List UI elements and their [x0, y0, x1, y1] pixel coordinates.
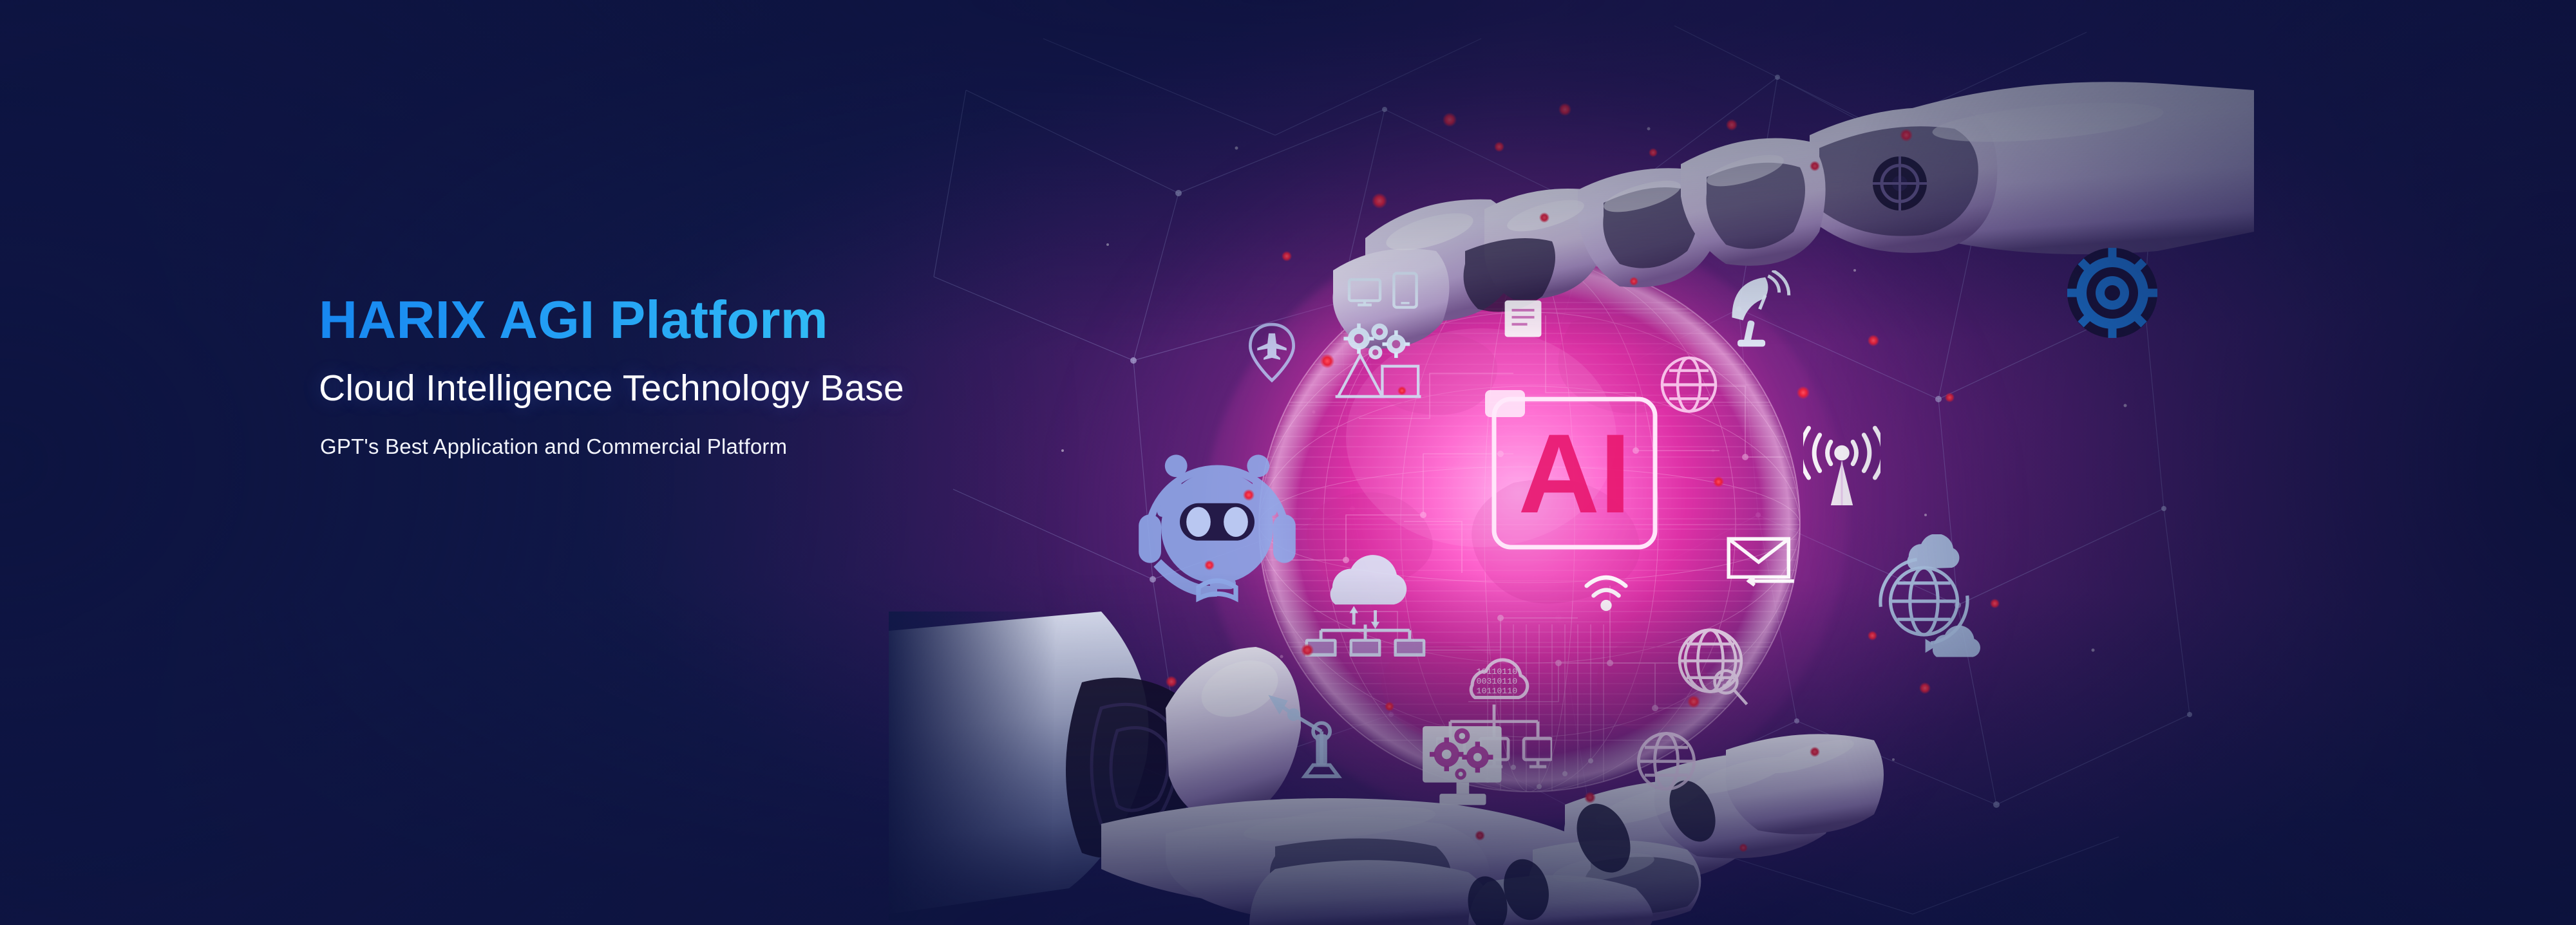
edge-vignette [0, 0, 2576, 925]
hero-banner: AI [0, 0, 2576, 925]
page-title: HARIX AGI Platform [319, 293, 1220, 346]
page-subtitle: Cloud Intelligence Technology Base [319, 369, 1220, 408]
hero-text-block: HARIX AGI Platform Cloud Intelligence Te… [319, 293, 1220, 458]
page-tagline: GPT's Best Application and Commercial Pl… [320, 435, 1220, 458]
